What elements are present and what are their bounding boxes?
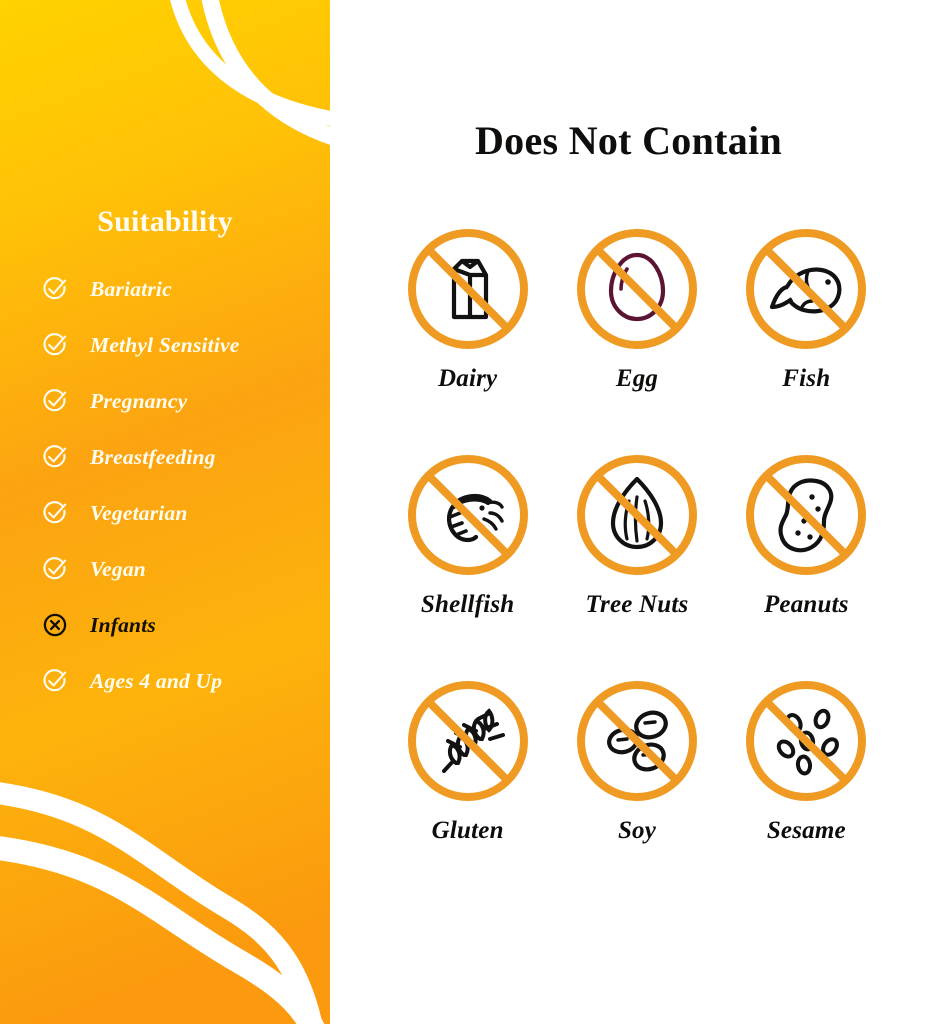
allergen-item-fish: Fish (722, 225, 891, 393)
sesame-seeds-icon (742, 677, 870, 805)
peanut-icon (742, 451, 870, 579)
allergen-label: Dairy (438, 365, 497, 393)
prohibition-ring (750, 685, 862, 797)
suitability-title: Suitability (0, 205, 330, 239)
suitability-item-breastfeeding: Breastfeeding (42, 438, 330, 476)
allergen-label: Gluten (432, 817, 504, 845)
suitability-list: Bariatric Methyl Sensitive Pregnancy (42, 270, 330, 718)
soybean-icon (573, 677, 701, 805)
suitability-item-label: Infants (90, 613, 156, 638)
suitability-item-label: Ages 4 and Up (90, 669, 222, 694)
allergen-label: Soy (618, 817, 656, 845)
allergen-label: Fish (782, 365, 830, 393)
check-circle-icon (42, 556, 68, 582)
infographic-root: Suitability Bariatric Methyl Sensitive (0, 0, 927, 1024)
shrimp-icon (404, 451, 532, 579)
allergen-label: Shellfish (421, 591, 515, 619)
check-circle-icon (42, 444, 68, 470)
suitability-item-label: Pregnancy (90, 389, 187, 414)
suitability-item-vegan: Vegan (42, 550, 330, 588)
suitability-item-label: Breastfeeding (90, 445, 216, 470)
suitability-item-label: Vegetarian (90, 501, 188, 526)
prohibition-ring (581, 233, 693, 345)
x-circle-icon (42, 612, 68, 638)
allergen-grid: Dairy Egg (383, 225, 891, 845)
allergen-label: Peanuts (764, 591, 849, 619)
suitability-item-label: Bariatric (90, 277, 172, 302)
does-not-contain-panel: Does Not Contain Dairy (330, 0, 927, 1024)
allergen-label: Egg (616, 365, 658, 393)
prohibition-ring (412, 459, 524, 571)
suitability-item-pregnancy: Pregnancy (42, 382, 330, 420)
allergen-item-tree-nuts: Tree Nuts (552, 451, 721, 619)
milk-carton-icon (404, 225, 532, 353)
check-circle-icon (42, 332, 68, 358)
allergen-item-soy: Soy (552, 677, 721, 845)
check-circle-icon (42, 500, 68, 526)
prohibition-ring (581, 685, 693, 797)
prohibition-ring (412, 685, 524, 797)
allergen-item-shellfish: Shellfish (383, 451, 552, 619)
page-title: Does Not Contain (330, 117, 927, 164)
allergen-item-egg: Egg (552, 225, 721, 393)
prohibition-ring (750, 233, 862, 345)
suitability-item-ages-4-and-up: Ages 4 and Up (42, 662, 330, 700)
wheat-icon (404, 677, 532, 805)
prohibition-ring (412, 233, 524, 345)
allergen-label: Sesame (767, 817, 846, 845)
suitability-item-bariatric: Bariatric (42, 270, 330, 308)
allergen-item-gluten: Gluten (383, 677, 552, 845)
almond-icon (573, 451, 701, 579)
prohibition-ring (581, 459, 693, 571)
allergen-label: Tree Nuts (586, 591, 689, 619)
suitability-item-vegetarian: Vegetarian (42, 494, 330, 532)
prohibition-ring (750, 459, 862, 571)
egg-icon (573, 225, 701, 353)
suitability-item-label: Methyl Sensitive (90, 333, 240, 358)
suitability-item-label: Vegan (90, 557, 146, 582)
suitability-item-methyl-sensitive: Methyl Sensitive (42, 326, 330, 364)
allergen-item-dairy: Dairy (383, 225, 552, 393)
check-circle-icon (42, 668, 68, 694)
allergen-item-sesame: Sesame (722, 677, 891, 845)
check-circle-icon (42, 388, 68, 414)
suitability-item-infants: Infants (42, 606, 330, 644)
allergen-item-peanuts: Peanuts (722, 451, 891, 619)
suitability-panel: Suitability Bariatric Methyl Sensitive (0, 0, 330, 1024)
check-circle-icon (42, 276, 68, 302)
fish-icon (742, 225, 870, 353)
